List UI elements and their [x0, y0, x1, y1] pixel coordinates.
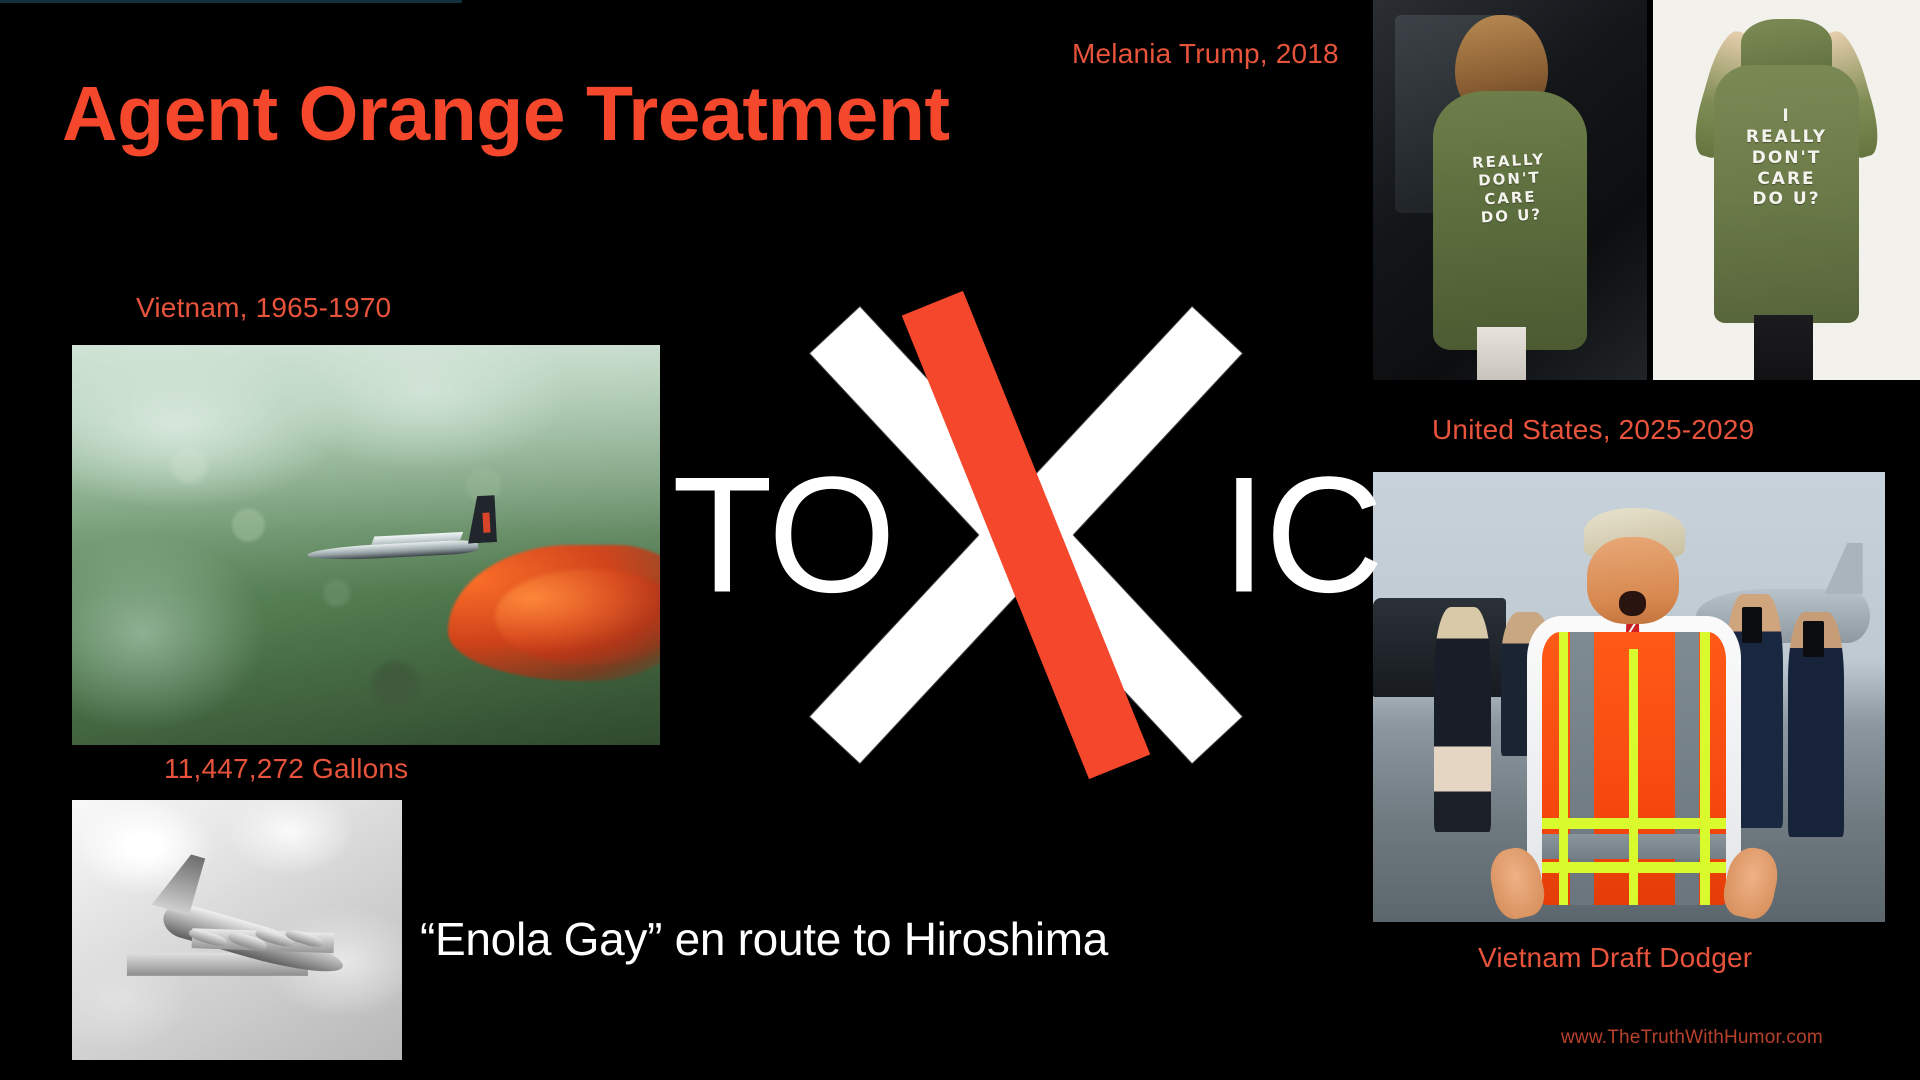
aircraft-tail-marking	[482, 512, 491, 532]
caption-united-states: United States, 2025-2029	[1432, 414, 1754, 446]
melania-jacket	[1433, 91, 1586, 349]
caption-melania: Melania Trump, 2018	[1072, 38, 1339, 70]
x-logo-icon	[791, 300, 1261, 770]
photo-melania-vehicle: REALLY DON'T CARE DO U?	[1373, 0, 1647, 380]
top-divider	[0, 0, 462, 3]
vest-neon-trim	[1542, 862, 1726, 873]
caption-gallons: 11,447,272 Gallons	[164, 753, 408, 785]
watermark-url: www.TheTruthWithHumor.com	[1561, 1027, 1823, 1049]
photo-agent-orange-spraying	[72, 345, 660, 745]
x-red-slash	[902, 291, 1150, 779]
toxic-wordmark: TO IC	[676, 255, 1376, 815]
smartphone-icon	[1803, 621, 1823, 657]
open-mouth	[1619, 591, 1646, 616]
photo-melania-product: I REALLY DON'T CARE DO U?	[1653, 0, 1920, 380]
model-legs	[1754, 315, 1813, 380]
caption-vietnam: Vietnam, 1965-1970	[136, 292, 391, 324]
vest-neon-trim	[1542, 818, 1726, 829]
caption-enola-gay: “Enola Gay” en route to Hiroshima	[420, 912, 1108, 966]
hi-vis-safety-vest	[1542, 632, 1726, 905]
page-title: Agent Orange Treatment	[62, 74, 950, 155]
meme-canvas: Agent Orange Treatment Melania Trump, 20…	[0, 0, 1920, 1080]
bomber-tailfin	[152, 847, 206, 915]
melania-jacket	[1714, 65, 1858, 323]
toxic-text-right: IC	[1221, 453, 1382, 618]
caption-draft-dodger: Vietnam Draft Dodger	[1478, 942, 1752, 974]
photo-enola-gay	[72, 800, 402, 1060]
trump-figure	[1486, 508, 1783, 922]
melania-legs	[1477, 327, 1526, 380]
photo-trump-safety-vest	[1373, 472, 1885, 922]
bystander	[1434, 607, 1490, 832]
